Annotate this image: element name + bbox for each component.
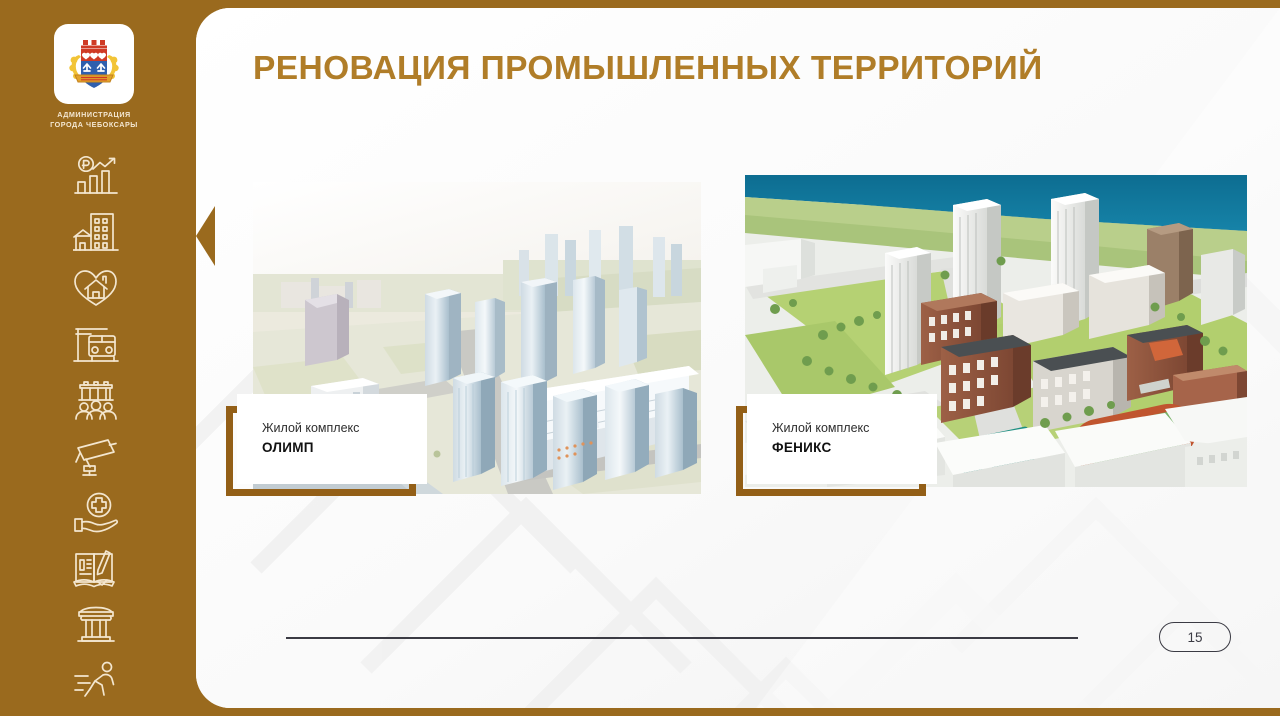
buildings-construction-icon: [73, 210, 119, 254]
sidebar-item-education[interactable]: [60, 540, 132, 596]
cheboksary-coat-of-arms-icon: [63, 33, 125, 95]
page-number-badge: 15: [1159, 622, 1231, 652]
logo-card[interactable]: [54, 24, 134, 104]
bus-stop-transport-icon: [73, 323, 119, 365]
caption-top-feniks: Жилой комплекс: [772, 419, 937, 438]
security-camera-icon: [73, 435, 119, 477]
economy-chart-ruble-icon: [73, 155, 119, 197]
logo-caption-line1: АДМИНИСТРАЦИЯ: [30, 110, 158, 120]
open-book-pencil-icon: [73, 547, 119, 589]
caption-top-olimp: Жилой комплекс: [262, 419, 427, 438]
sidebar-item-health[interactable]: [60, 484, 132, 540]
caption-name-olimp: ОЛИМП: [262, 438, 427, 459]
caption-name-feniks: ФЕНИКС: [772, 438, 937, 459]
panel-edge-notch: [189, 206, 215, 266]
figure-olimp: Жилой комплекс ОЛИМП: [253, 182, 701, 494]
sidebar-item-sport[interactable]: [60, 652, 132, 708]
runner-sport-icon: [73, 659, 119, 701]
footer-rule: [286, 637, 1078, 639]
government-people-icon: [73, 379, 119, 421]
figure-feniks: Жилой комплекс ФЕНИКС: [745, 175, 1247, 487]
slide-root: АДМИНИСТРАЦИЯ ГОРОДА ЧЕБОКСАРЫ: [0, 0, 1280, 716]
sidebar-item-security[interactable]: [60, 428, 132, 484]
caption-card-feniks: Жилой комплекс ФЕНИКС: [747, 394, 937, 484]
sidebar-item-construction[interactable]: [60, 204, 132, 260]
caption-card-olimp: Жилой комплекс ОЛИМП: [237, 394, 427, 484]
logo-caption: АДМИНИСТРАЦИЯ ГОРОДА ЧЕБОКСАРЫ: [30, 110, 158, 131]
sidebar-item-housing[interactable]: [60, 260, 132, 316]
sidebar-item-economy[interactable]: [60, 148, 132, 204]
logo-caption-line2: ГОРОДА ЧЕБОКСАРЫ: [30, 120, 158, 130]
heart-house-icon: [73, 267, 119, 309]
sidebar-item-culture[interactable]: [60, 596, 132, 652]
health-hand-cross-icon: [73, 491, 119, 533]
classical-column-icon: [73, 603, 119, 645]
page-title: РЕНОВАЦИЯ ПРОМЫШЛЕННЫХ ТЕРРИТОРИЙ: [253, 50, 1043, 88]
sidebar: АДМИНИСТРАЦИЯ ГОРОДА ЧЕБОКСАРЫ: [0, 0, 200, 716]
sidebar-item-transport[interactable]: [60, 316, 132, 372]
sidebar-item-society[interactable]: [60, 372, 132, 428]
sidebar-nav: [60, 148, 132, 708]
